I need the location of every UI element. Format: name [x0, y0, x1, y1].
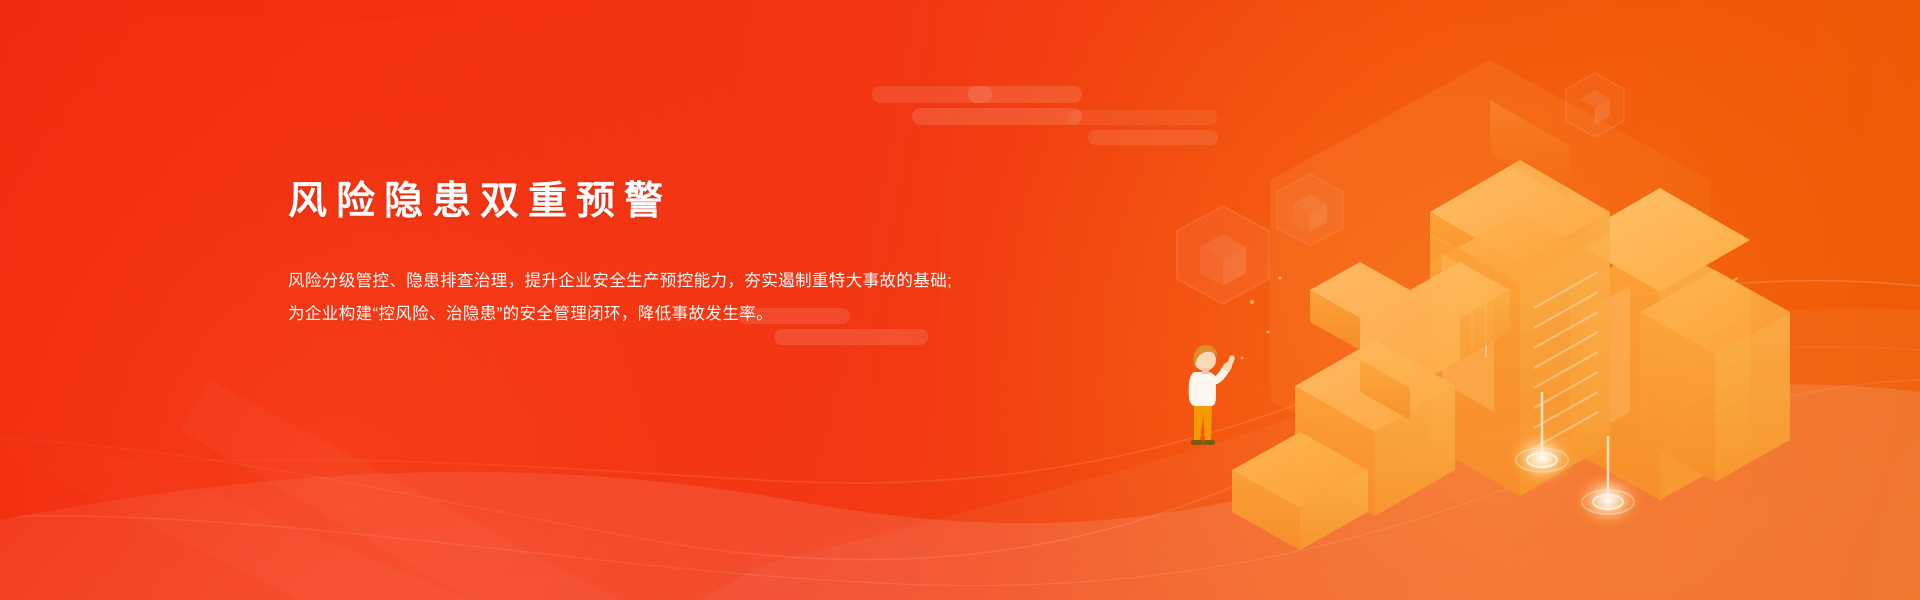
person-pointing-figure — [1178, 336, 1238, 452]
banner-copy: 风险隐患双重预警 风险分级管控、隐患排查治理，提升企业安全生产预控能力，夯实遏制… — [288, 178, 1008, 331]
subtitle-line-1: 风险分级管控、隐患排查治理，提升企业安全生产预控能力，夯实遏制重特大事故的基础; — [288, 265, 1008, 298]
cloud-icon — [872, 86, 1082, 138]
page-title: 风险隐患双重预警 — [288, 178, 1008, 227]
subtitle-line-2: 为企业构建“控风险、治隐患”的安全管理闭环，降低事故发生率。 — [288, 298, 1008, 331]
banner-subtitle: 风险分级管控、隐患排查治理，提升企业安全生产预控能力，夯实遏制重特大事故的基础;… — [288, 265, 1008, 331]
hexagon-icon — [1560, 70, 1630, 140]
cloud-icon — [1068, 110, 1248, 158]
promo-banner: 风险隐患双重预警 风险分级管控、隐患排查治理，提升企业安全生产预控能力，夯实遏制… — [0, 0, 1920, 600]
hexagon-icon — [1168, 200, 1278, 310]
right-glow — [940, 0, 1920, 600]
hexagon-icon — [1270, 170, 1350, 250]
isometric-city-illustration — [1190, 40, 1810, 560]
